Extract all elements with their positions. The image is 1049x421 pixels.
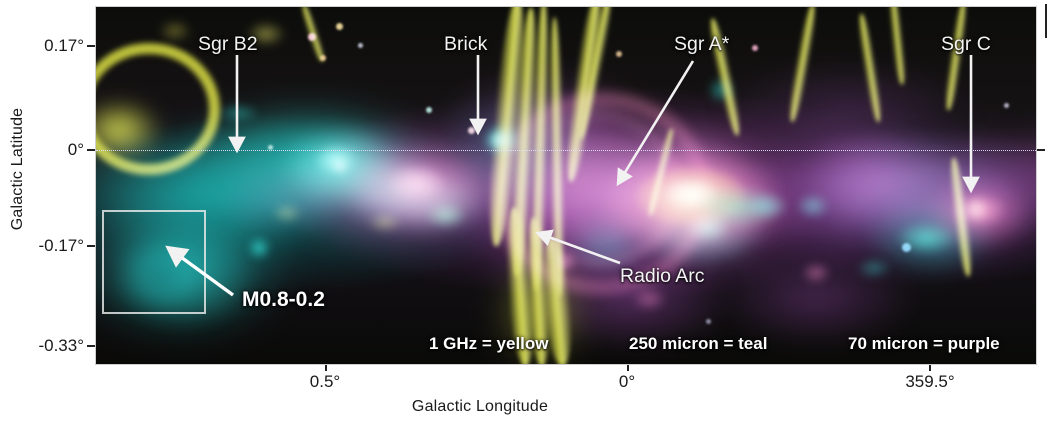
annotation-label-radio-arc: Radio Arc bbox=[620, 265, 705, 288]
annotation-label-m08-02: M0.8-0.2 bbox=[242, 288, 325, 312]
x-tick-label-2: 359.5° bbox=[880, 372, 980, 392]
x-tick-label-0: 0.5° bbox=[285, 372, 365, 392]
annotation-label-sgr-a-star: Sgr A* bbox=[674, 33, 729, 56]
annotation-label-sgr-b2: Sgr B2 bbox=[198, 33, 258, 56]
legend-item-250micron: 250 micron = teal bbox=[629, 334, 767, 354]
arrow-radio-arc bbox=[543, 235, 620, 263]
figure-container: Galactic Latitude Galactic Longitude 0.1… bbox=[0, 0, 1049, 421]
figure-right-edge-rule bbox=[1045, 4, 1047, 38]
x-tick-label-1: 0° bbox=[592, 372, 662, 392]
x-axis-label: Galactic Longitude bbox=[330, 398, 630, 416]
y-tick-label-1: 0° bbox=[10, 140, 84, 160]
y-tick-label-2: -0.17° bbox=[10, 236, 84, 256]
annotation-label-brick: Brick bbox=[444, 33, 487, 56]
sky-image-panel: Sgr B2 Brick Sgr A* Sgr C Radio Arc M0.8… bbox=[95, 6, 1037, 365]
legend-item-1ghz: 1 GHz = yellow bbox=[429, 334, 549, 354]
y-tick-label-0: 0.17° bbox=[10, 36, 84, 56]
annotation-arrows bbox=[96, 7, 1036, 364]
arrow-sgr-a-star bbox=[621, 61, 693, 179]
arrow-m08-02 bbox=[174, 252, 233, 295]
right-axis-tick-mark bbox=[1036, 149, 1045, 151]
y-tick-label-3: -0.33° bbox=[10, 336, 84, 356]
sky-image: Sgr B2 Brick Sgr A* Sgr C Radio Arc M0.8… bbox=[96, 7, 1036, 364]
annotation-label-sgr-c: Sgr C bbox=[941, 33, 991, 56]
legend-item-70micron: 70 micron = purple bbox=[848, 334, 1000, 354]
